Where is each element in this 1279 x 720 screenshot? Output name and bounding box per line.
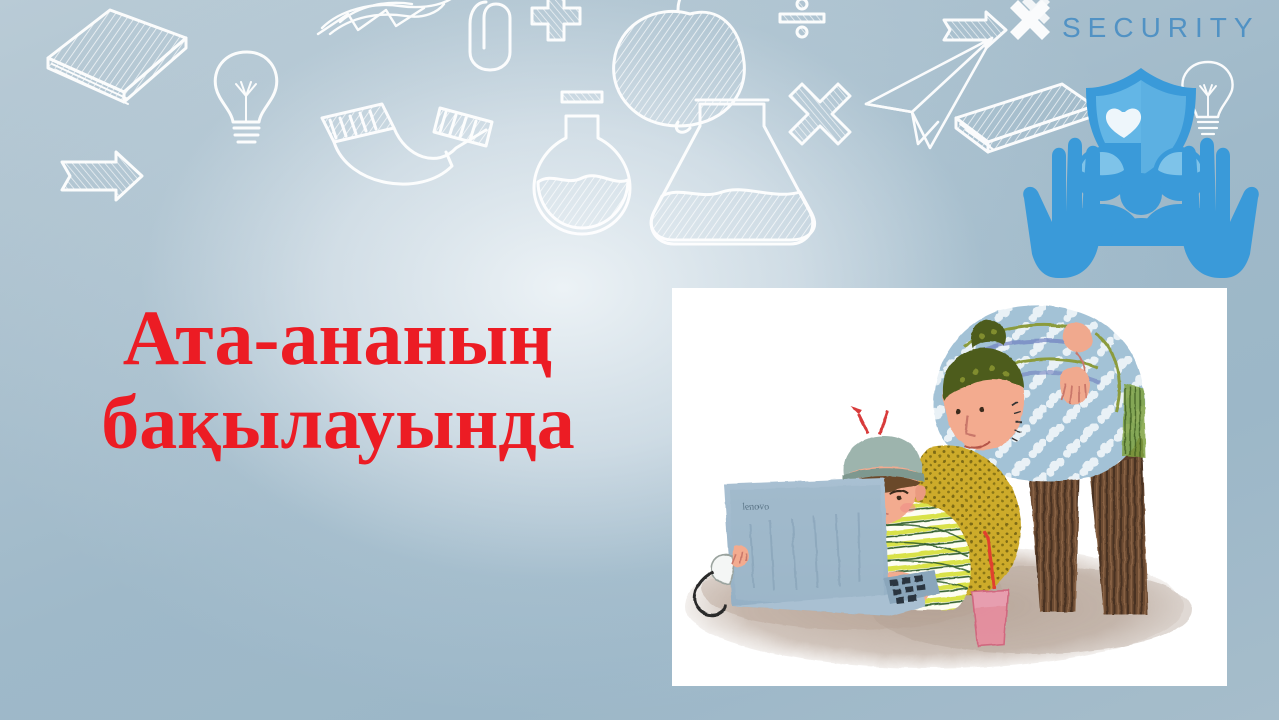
laptop-brand-mark: lenovo: [742, 501, 770, 513]
round-flask-icon: [534, 84, 630, 234]
security-wordmark: SECURITY: [1062, 12, 1260, 44]
lightbulb-icon: [215, 52, 277, 142]
presentation-slide: SECURITY: [0, 0, 1279, 720]
conical-flask-icon: [651, 100, 814, 244]
title-line-2: бақылауында: [28, 381, 648, 466]
illustration-frame: lenovo: [672, 288, 1227, 686]
arrow-right-icon-2: [944, 12, 1006, 48]
paperclip-icon: [470, 2, 510, 70]
ribbon-banner-icon: [322, 104, 492, 184]
apple-icon: [614, 0, 745, 132]
parent-supervising-child-illustration: lenovo: [672, 288, 1227, 686]
multiply-icon: [790, 84, 850, 144]
paper-plane-icon: [866, 38, 992, 148]
slide-title: Ата-ананың бақылауында: [28, 294, 648, 466]
plus-icon: [532, 0, 580, 40]
security-logo: SECURITY: [1010, 4, 1272, 294]
divide-icon: [780, 0, 824, 37]
minus-icon: [562, 92, 602, 102]
scribble-cloud-icon: [318, 0, 455, 34]
book-icon: [48, 10, 186, 104]
title-line-1: Ата-ананың: [28, 294, 648, 381]
logo-graphic: [1010, 46, 1272, 291]
arrow-right-icon: [62, 152, 142, 200]
